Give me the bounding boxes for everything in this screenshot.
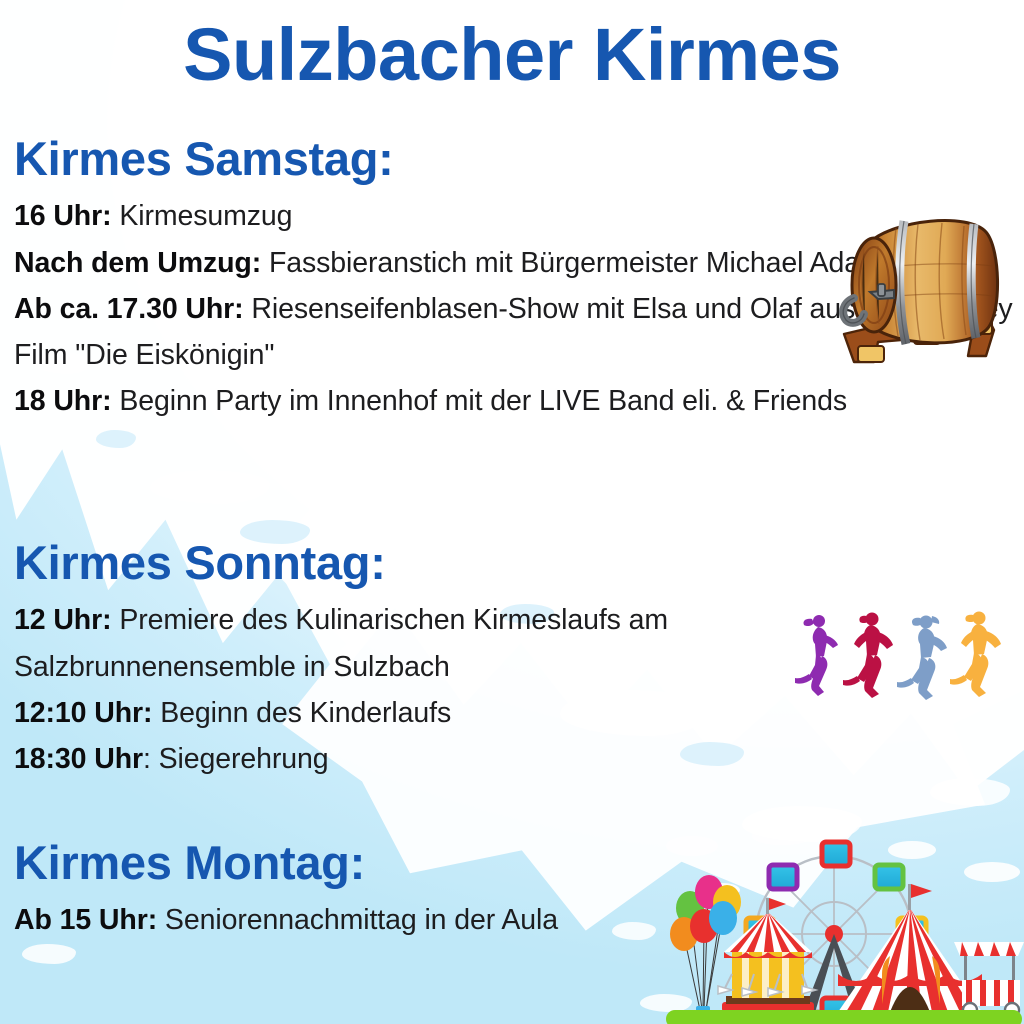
schedule-time: 18 Uhr: [14,385,112,417]
schedule-text: Seniorennachmittag in der Aula [157,904,558,936]
schedule-time: 12 Uhr: [14,604,112,636]
runners-illustration [790,608,1016,708]
food-cart [954,942,1024,1017]
section-heading-sonntag: Kirmes Sonntag: [14,538,1010,587]
schedule-time: 16 Uhr: [14,200,112,232]
schedule-line: 18:30 Uhr: Siegerehrung [14,736,814,782]
schedule-text: Beginn des Kinderlaufs [152,697,451,729]
schedule-time: Ab 15 Uhr: [14,904,157,936]
balloons [670,875,741,1016]
schedule-time: 18:30 Uhr [14,743,143,775]
schedule-text: Fassbieranstich mit Bürgermeister Michae… [261,247,884,279]
section-heading-samstag: Kirmes Samstag: [14,134,1010,183]
runner-orange [950,612,1001,698]
page-title: Sulzbacher Kirmes [0,18,1024,92]
runner-purple [795,615,838,696]
runner-blue [897,616,947,701]
schedule-line: 18 Uhr: Beginn Party im Innenhof mit der… [14,378,1014,424]
schedule-text: : Siegerehrung [143,743,329,775]
schedule-time: Ab ca. 17.30 Uhr: [14,293,244,325]
schedule-time: 12:10 Uhr: [14,697,152,729]
schedule-text: Premiere des Kulinarischen Kirmeslaufs a… [14,604,668,682]
schedule-text: Beginn Party im Innenhof mit der LIVE Ba… [112,385,848,417]
beer-barrel-illustration [818,206,1008,374]
schedule-line: Ab 15 Uhr: Seniorennachmittag in der Aul… [14,897,714,943]
schedule-text: Kirmesumzug [112,200,293,232]
schedule-line: 12:10 Uhr: Beginn des Kinderlaufs [14,690,814,736]
fairground-illustration [662,824,1024,1024]
runner-crimson [843,613,893,699]
poster-canvas: Sulzbacher Kirmes Kirmes Samstag: 16 Uhr… [0,0,1024,1024]
schedule-time: Nach dem Umzug: [14,247,261,279]
schedule-line: 12 Uhr: Premiere des Kulinarischen Kirme… [14,597,814,689]
grass-strip [666,1010,1022,1024]
